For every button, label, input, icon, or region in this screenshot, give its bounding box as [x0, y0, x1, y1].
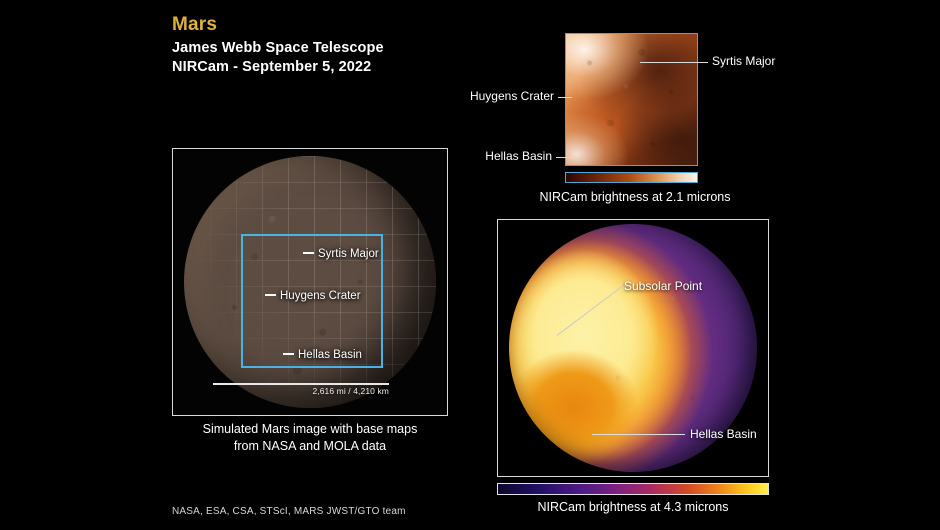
telescope-subtitle: James Webb Space Telescope: [172, 39, 502, 58]
left-panel-caption: Simulated Mars image with base maps from…: [172, 421, 448, 455]
scale-bar-label: 2,616 mi / 4,210 km: [213, 386, 389, 396]
br-annotation-subsolar-point-label: Subsolar Point: [624, 279, 702, 293]
leader-dash-icon: [283, 353, 294, 355]
nircam-2p1-micron-panel: [565, 33, 698, 166]
mars-globe-image: Syrtis Major Huygens Crater Hellas Basin…: [173, 149, 447, 415]
nircam-2p1-colorbar: [565, 172, 698, 183]
nircam-4p3-colorbar: [497, 483, 769, 495]
edge-vignette: [0, 0, 940, 530]
leader-dash-icon: [303, 252, 314, 254]
tr-annotation-hellas-basin-label: Hellas Basin: [430, 149, 552, 163]
leader-line-hellas-basin-tr: [556, 157, 572, 158]
leader-line-huygens-crater-tr: [558, 97, 572, 98]
leader-dash-icon: [265, 294, 276, 296]
mars-jwst-infographic: Mars James Webb Space Telescope NIRCam -…: [0, 0, 940, 530]
nircam-2p1-noise-texture: [566, 34, 697, 165]
left-annotation-syrtis-major-label: Syrtis Major: [318, 248, 379, 260]
left-annotation-hellas-basin: Hellas Basin: [283, 349, 362, 361]
tr-annotation-huygens-crater-label: Huygens Crater: [426, 89, 554, 103]
left-caption-line-2: from NASA and MOLA data: [172, 438, 448, 455]
tr-annotation-syrtis-major-label: Syrtis Major: [712, 54, 775, 68]
leader-line-hellas-basin-br: [592, 434, 685, 435]
image-credits: NASA, ESA, CSA, STScI, MARS JWST/GTO tea…: [172, 506, 406, 517]
title-block: Mars James Webb Space Telescope NIRCam -…: [172, 14, 502, 77]
simulated-mars-panel: Syrtis Major Huygens Crater Hellas Basin…: [172, 148, 448, 416]
leader-line-syrtis-major-tr: [640, 62, 708, 63]
left-annotation-hellas-basin-label: Hellas Basin: [298, 349, 362, 361]
nircam-2p1-micron-image: [566, 34, 697, 165]
br-annotation-hellas-basin-label: Hellas Basin: [690, 427, 757, 441]
instrument-date-subtitle: NIRCam - September 5, 2022: [172, 58, 502, 77]
nircam-4p3-caption: NIRCam brightness at 4.3 microns: [497, 500, 769, 514]
scale-bar-line: [213, 383, 389, 385]
left-caption-line-1: Simulated Mars image with base maps: [172, 421, 448, 438]
left-annotation-huygens-crater-label: Huygens Crater: [280, 290, 361, 302]
left-annotation-syrtis-major: Syrtis Major: [303, 248, 379, 260]
nircam-2p1-caption: NIRCam brightness at 2.1 microns: [520, 190, 750, 204]
page-title: Mars: [172, 14, 502, 36]
left-annotation-huygens-crater: Huygens Crater: [265, 290, 361, 302]
